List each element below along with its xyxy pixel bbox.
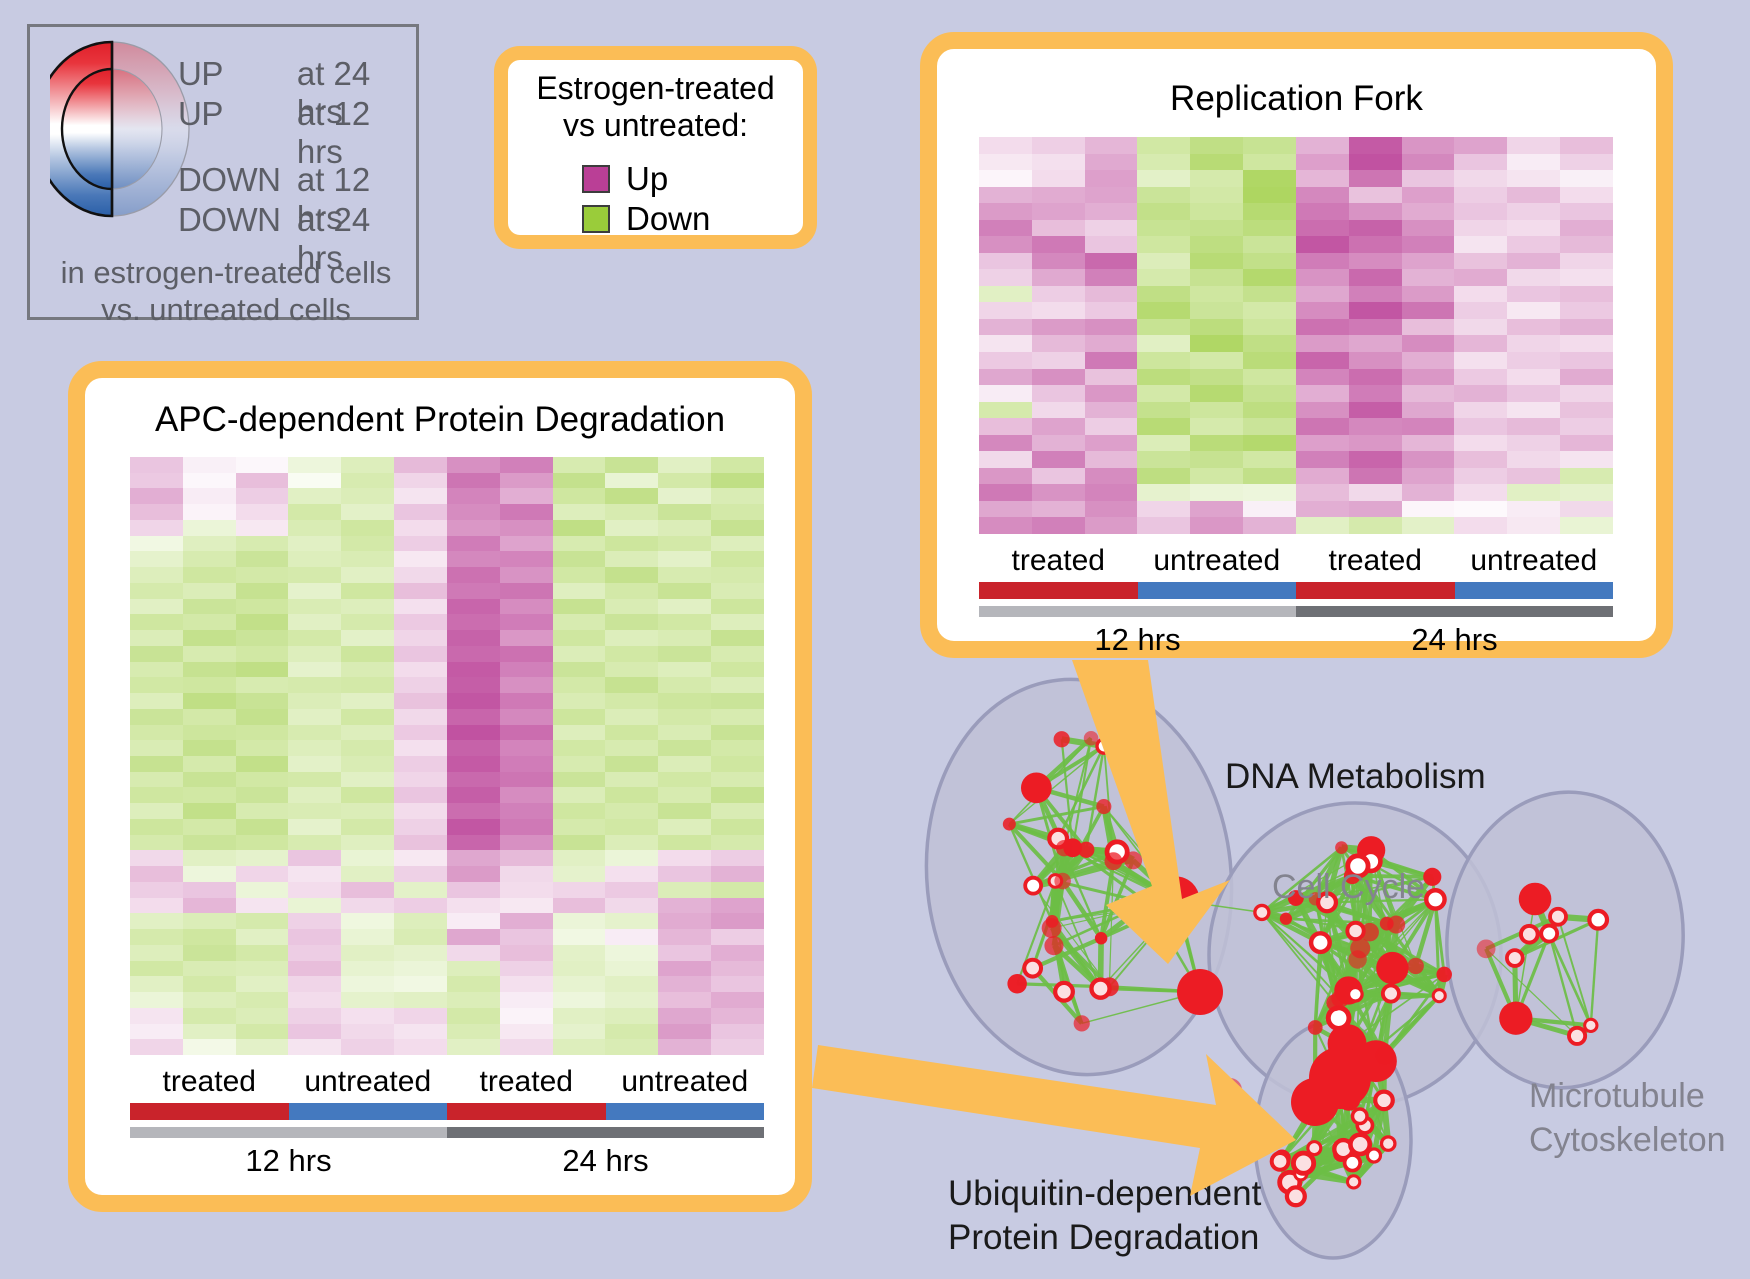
heatmap-cell	[394, 740, 447, 756]
heatmap-cell	[288, 835, 341, 851]
heatmap-cell	[1402, 385, 1455, 402]
heatmap-cell	[236, 693, 289, 709]
heatmap-cell	[500, 898, 553, 914]
heatmap-cell	[979, 402, 1032, 419]
heatmap-cell	[394, 709, 447, 725]
heatmap-cell	[1402, 154, 1455, 171]
heatmap-cell	[341, 961, 394, 977]
heatmap-cell	[130, 567, 183, 583]
heatmap-cell	[553, 457, 606, 473]
heatmap-cell	[1454, 137, 1507, 154]
heatmap-cell	[658, 882, 711, 898]
heatmap-cell	[447, 866, 500, 882]
heatmap-cell	[288, 567, 341, 583]
network-node	[1078, 842, 1094, 858]
cluster-label-line1: Ubiquitin-dependent	[948, 1172, 1261, 1216]
heatmap-cell	[341, 599, 394, 615]
heatmap-cell	[979, 187, 1032, 204]
heatmap-cell	[1243, 402, 1296, 419]
heatmap-cell	[1296, 286, 1349, 303]
heatmap-cell	[236, 787, 289, 803]
heatmap-cell	[553, 976, 606, 992]
heatmap-cell	[341, 1008, 394, 1024]
heatmap-cell	[130, 677, 183, 693]
heatmap-cell	[341, 850, 394, 866]
heatmap-cell	[1085, 154, 1138, 171]
heatmap-cell	[1137, 253, 1190, 270]
heatmap-cell	[341, 473, 394, 489]
condition-label: treated	[979, 541, 1138, 581]
heatmap-cell	[183, 646, 236, 662]
heatmap-cell	[1190, 170, 1243, 187]
heatmap-cell	[1560, 269, 1613, 286]
heatmap-cell	[1349, 451, 1402, 468]
heatmap-cell	[500, 961, 553, 977]
network-node	[1499, 1002, 1532, 1035]
condition-color-bars	[979, 582, 1613, 599]
heatmap-cell	[1402, 302, 1455, 319]
heatmap-cell	[658, 945, 711, 961]
heatmap-cell	[1402, 286, 1455, 303]
heatmap-cell	[1560, 369, 1613, 386]
heatmap-cell	[1137, 187, 1190, 204]
heatmap-cell	[1349, 286, 1402, 303]
heatmap-cell	[500, 835, 553, 851]
heatmap-cell	[658, 929, 711, 945]
heatmap-cell	[447, 961, 500, 977]
heatmap-cell	[1296, 319, 1349, 336]
heatmap-cell	[1402, 418, 1455, 435]
heatmap-cell	[1349, 468, 1402, 485]
heatmap-cell	[1190, 137, 1243, 154]
heatmap-cell	[658, 850, 711, 866]
heatmap-cell	[1190, 435, 1243, 452]
heatmap-cell	[1032, 402, 1085, 419]
heatmap-cell	[341, 709, 394, 725]
heatmap-cell	[605, 662, 658, 678]
heatmap-cell	[658, 1008, 711, 1024]
heatmap-cell	[1190, 154, 1243, 171]
heatmap-cell	[1243, 369, 1296, 386]
heatmap-cell	[288, 1008, 341, 1024]
heatmap-cell	[658, 520, 711, 536]
heatmap-cell	[605, 945, 658, 961]
heatmap-cell	[553, 646, 606, 662]
heatmap-cell	[1507, 402, 1560, 419]
heatmap-cell	[1454, 468, 1507, 485]
heatmap-cell	[1137, 154, 1190, 171]
heatmap-cell	[500, 1008, 553, 1024]
key-label-up: Up	[626, 160, 668, 198]
heatmap-cell	[394, 536, 447, 552]
network-node	[1347, 923, 1363, 939]
heatmap-cell	[500, 725, 553, 741]
heatmap-cell	[447, 740, 500, 756]
heatmap-cell	[500, 866, 553, 882]
heatmap-cell	[1454, 418, 1507, 435]
cluster-label-line1: Microtubule	[1529, 1075, 1726, 1119]
heatmap-cell	[1243, 319, 1296, 336]
heatmap-cell	[447, 787, 500, 803]
condition-labels: treated untreated treated untreated	[130, 1062, 764, 1102]
heatmap-cell	[1085, 369, 1138, 386]
time-bar-24hrs	[1296, 606, 1613, 617]
heatmap-cell	[1402, 335, 1455, 352]
time-bar-12hrs	[979, 606, 1296, 617]
heatmap-cell	[979, 302, 1032, 319]
heatmap-cell	[1032, 451, 1085, 468]
heatmap-cell	[236, 803, 289, 819]
heatmap-cell	[500, 756, 553, 772]
heatmap-cell	[711, 662, 764, 678]
heatmap-cell	[1560, 484, 1613, 501]
heatmap-cell	[394, 551, 447, 567]
heatmap-cell	[236, 677, 289, 693]
heatmap-cell	[1296, 269, 1349, 286]
heatmap-cell	[500, 976, 553, 992]
legend-caption-line2: vs. untreated cells	[30, 292, 422, 329]
heatmap-cell	[553, 835, 606, 851]
heatmap-cell	[553, 693, 606, 709]
heatmap-cell	[979, 286, 1032, 303]
heatmap-cell	[1507, 286, 1560, 303]
heatmap-cell	[711, 787, 764, 803]
heatmap-cell	[500, 693, 553, 709]
heatmap-cell	[1402, 236, 1455, 253]
condition-bar-untreated	[606, 1103, 765, 1120]
heatmap-cell	[236, 740, 289, 756]
network-node	[1519, 883, 1552, 916]
heatmap-cell	[711, 614, 764, 630]
heatmap-cell	[658, 599, 711, 615]
heatmap-cell	[1349, 170, 1402, 187]
heatmap-cell	[394, 583, 447, 599]
heatmap-cell	[1560, 286, 1613, 303]
heatmap-cell	[236, 772, 289, 788]
heatmap-cell	[288, 677, 341, 693]
heatmap-cell	[1349, 501, 1402, 518]
heatmap-cell	[1507, 137, 1560, 154]
heatmap-cell	[183, 866, 236, 882]
heatmap-cell	[183, 583, 236, 599]
heatmap-cell	[236, 583, 289, 599]
heatmap-cell	[447, 913, 500, 929]
heatmap-cell	[236, 1024, 289, 1040]
network-node	[1003, 818, 1016, 831]
heatmap-cell	[1402, 369, 1455, 386]
heatmap-cell	[979, 319, 1032, 336]
condition-bar-treated	[130, 1103, 289, 1120]
heatmap-cell	[979, 517, 1032, 534]
heatmap-cell	[1402, 220, 1455, 237]
heatmap-cell	[236, 898, 289, 914]
heatmap-cell	[605, 520, 658, 536]
heatmap-cell	[1137, 137, 1190, 154]
key-title: Estrogen-treated vs untreated:	[508, 70, 803, 144]
heatmap-cell	[1296, 435, 1349, 452]
heatmap-cell	[1190, 236, 1243, 253]
heatmap-cell	[236, 819, 289, 835]
heatmap-cell	[553, 536, 606, 552]
heatmap-cell	[553, 504, 606, 520]
heatmap-cell	[1243, 187, 1296, 204]
heatmap-cell	[979, 484, 1032, 501]
heatmap-cell	[553, 583, 606, 599]
heatmap-cell	[183, 787, 236, 803]
heatmap-cell	[447, 551, 500, 567]
heatmap-cell	[1137, 435, 1190, 452]
heatmap-cell	[183, 961, 236, 977]
heatmap-cell	[236, 913, 289, 929]
heatmap-cell	[236, 882, 289, 898]
heatmap-cell	[183, 457, 236, 473]
heatmap-cell	[553, 599, 606, 615]
heatmap-cell	[1560, 203, 1613, 220]
heatmap-cell	[130, 693, 183, 709]
heatmap-cell	[1032, 253, 1085, 270]
heatmap-cell	[183, 835, 236, 851]
heatmap-replication-fork	[979, 137, 1613, 534]
heatmap-cell	[1032, 319, 1085, 336]
heatmap-cell	[711, 898, 764, 914]
heatmap-cell	[1454, 286, 1507, 303]
heatmap-cell	[1349, 203, 1402, 220]
heatmap-cell	[1402, 435, 1455, 452]
heatmap-cell	[447, 520, 500, 536]
heatmap-cell	[500, 567, 553, 583]
heatmap-cell	[341, 677, 394, 693]
heatmap-cell	[500, 614, 553, 630]
heatmap-cell	[711, 504, 764, 520]
heatmap-cell	[341, 898, 394, 914]
heatmap-cell	[183, 630, 236, 646]
heatmap-cell	[711, 803, 764, 819]
heatmap-cell	[1296, 517, 1349, 534]
heatmap-cell	[1137, 418, 1190, 435]
heatmap-cell	[183, 488, 236, 504]
heatmap-cell	[1085, 468, 1138, 485]
heatmap-cell	[130, 614, 183, 630]
heatmap-cell	[553, 898, 606, 914]
heatmap-cell	[658, 614, 711, 630]
heatmap-cell	[1296, 203, 1349, 220]
heatmap-cell	[1402, 203, 1455, 220]
heatmap-cell	[553, 913, 606, 929]
network-node	[1375, 1092, 1393, 1110]
network-node	[1376, 952, 1408, 984]
heatmap-cell	[500, 630, 553, 646]
heatmap-cell	[979, 468, 1032, 485]
heatmap-cell	[500, 929, 553, 945]
heatmap-cell	[130, 945, 183, 961]
heatmap-cell	[288, 913, 341, 929]
time-color-bars	[130, 1127, 764, 1138]
heatmap-cell	[394, 945, 447, 961]
network-node	[1381, 1137, 1394, 1150]
network-node	[1383, 985, 1399, 1001]
heatmap-cell	[236, 504, 289, 520]
heatmap-cell	[288, 1024, 341, 1040]
heatmap-cell	[1085, 269, 1138, 286]
heatmap-cell	[605, 614, 658, 630]
panel-replication-fork: Replication Fork treated untreated treat…	[920, 32, 1673, 658]
heatmap-cell	[1137, 220, 1190, 237]
heatmap-cell	[341, 583, 394, 599]
condition-labels: treated untreated treated untreated	[979, 541, 1613, 581]
heatmap-cell	[447, 976, 500, 992]
heatmap-cell	[1507, 468, 1560, 485]
panel-title-apc-degradation: APC-dependent Protein Degradation	[85, 400, 795, 440]
heatmap-cell	[553, 740, 606, 756]
heatmap-cell	[183, 756, 236, 772]
heatmap-cell	[1507, 451, 1560, 468]
heatmap-cell	[658, 740, 711, 756]
heatmap-cell	[1402, 269, 1455, 286]
heatmap-cell	[1032, 418, 1085, 435]
heatmap-cell	[711, 457, 764, 473]
heatmap-cell	[236, 520, 289, 536]
heatmap-cell	[658, 725, 711, 741]
heatmap-cell	[1032, 369, 1085, 386]
condition-label: untreated	[606, 1062, 765, 1102]
heatmap-cell	[658, 1024, 711, 1040]
heatmap-cell	[1137, 286, 1190, 303]
heatmap-cell	[605, 693, 658, 709]
down-color-swatch	[582, 205, 610, 233]
heatmap-cell	[605, 929, 658, 945]
heatmap-cell	[130, 646, 183, 662]
heatmap-cell	[341, 725, 394, 741]
time-label: 12 hrs	[130, 1138, 447, 1184]
heatmap-cell	[979, 451, 1032, 468]
heatmap-cell	[288, 740, 341, 756]
heatmap-cell	[500, 709, 553, 725]
heatmap-cell	[1454, 435, 1507, 452]
legend-row-labels: UP at 24 hrs UP at 12 hrs DOWN at 12 hrs…	[178, 55, 418, 241]
heatmap-cell	[1190, 319, 1243, 336]
heatmap-cell	[1032, 484, 1085, 501]
network-node	[1353, 1109, 1367, 1123]
heatmap-cell	[711, 646, 764, 662]
heatmap-cell	[183, 803, 236, 819]
heatmap-cell	[1296, 451, 1349, 468]
heatmap-cell	[1190, 451, 1243, 468]
heatmap-cell	[1507, 352, 1560, 369]
heatmap-cell	[183, 473, 236, 489]
heatmap-cell	[447, 850, 500, 866]
heatmap-cell	[553, 1008, 606, 1024]
heatmap-cell	[236, 756, 289, 772]
heatmap-cell	[447, 583, 500, 599]
heatmap-cell	[979, 170, 1032, 187]
network-node	[1550, 909, 1566, 925]
heatmap-cell	[394, 662, 447, 678]
heatmap-cell	[1137, 203, 1190, 220]
heatmap-cell	[236, 976, 289, 992]
heatmap-cell	[130, 819, 183, 835]
heatmap-cell	[605, 567, 658, 583]
heatmap-cell	[1349, 137, 1402, 154]
heatmap-cell	[711, 1024, 764, 1040]
heatmap-cell	[1454, 451, 1507, 468]
heatmap-cell	[1190, 402, 1243, 419]
heatmap-cell	[394, 992, 447, 1008]
network-node	[1426, 890, 1444, 908]
heatmap-cell	[979, 154, 1032, 171]
heatmap-cell	[394, 457, 447, 473]
heatmap-cell	[236, 473, 289, 489]
heatmap-cell	[394, 1039, 447, 1055]
heatmap-cell	[1085, 335, 1138, 352]
network-node	[1507, 950, 1523, 966]
heatmap-cell	[1454, 220, 1507, 237]
cluster-label-microtubule-cytoskeleton: Microtubule Cytoskeleton	[1529, 1075, 1726, 1162]
panel-title-replication-fork: Replication Fork	[937, 79, 1656, 119]
heatmap-cell	[1243, 385, 1296, 402]
heatmap-cell	[605, 677, 658, 693]
heatmap-cell	[394, 520, 447, 536]
heatmap-cell	[1190, 352, 1243, 369]
heatmap-cell	[1243, 468, 1296, 485]
heatmap-cell	[183, 992, 236, 1008]
heatmap-cell	[1032, 517, 1085, 534]
heatmap-cell	[500, 882, 553, 898]
heatmap-cell	[1137, 352, 1190, 369]
heatmap-cell	[500, 803, 553, 819]
heatmap-cell	[288, 992, 341, 1008]
heatmap-cell	[553, 614, 606, 630]
heatmap-cell	[605, 740, 658, 756]
heatmap-cell	[288, 866, 341, 882]
heatmap-cell	[711, 929, 764, 945]
heatmap-cell	[1085, 352, 1138, 369]
heatmap-cell	[605, 772, 658, 788]
heatmap-cell	[341, 504, 394, 520]
heatmap-cell	[711, 599, 764, 615]
heatmap-cell	[1560, 220, 1613, 237]
heatmap-cell	[1454, 352, 1507, 369]
heatmap-cell	[394, 835, 447, 851]
heatmap-cell	[130, 913, 183, 929]
heatmap-cell	[605, 961, 658, 977]
heatmap-cell	[341, 882, 394, 898]
heatmap-cell	[341, 945, 394, 961]
heatmap-cell	[130, 709, 183, 725]
heatmap-cell	[605, 976, 658, 992]
heatmap-cell	[447, 457, 500, 473]
heatmap-cell	[1190, 501, 1243, 518]
heatmap-cell	[288, 520, 341, 536]
heatmap-cell	[130, 457, 183, 473]
heatmap-cell	[1296, 369, 1349, 386]
legend-direction: DOWN	[178, 201, 297, 239]
heatmap-cell	[1454, 319, 1507, 336]
network-node	[1293, 1153, 1313, 1173]
heatmap-cell	[1296, 236, 1349, 253]
heatmap-cell	[605, 913, 658, 929]
heatmap-cell	[341, 488, 394, 504]
heatmap-cell	[1190, 468, 1243, 485]
heatmap-cell	[1349, 402, 1402, 419]
network-node	[1024, 960, 1041, 977]
condition-label: untreated	[1455, 541, 1614, 581]
network-node	[1104, 852, 1122, 870]
heatmap-cell	[1402, 501, 1455, 518]
heatmap-cell	[1243, 220, 1296, 237]
heatmap-cell	[183, 693, 236, 709]
heatmap-cell	[1402, 319, 1455, 336]
heatmap-cell	[1085, 435, 1138, 452]
